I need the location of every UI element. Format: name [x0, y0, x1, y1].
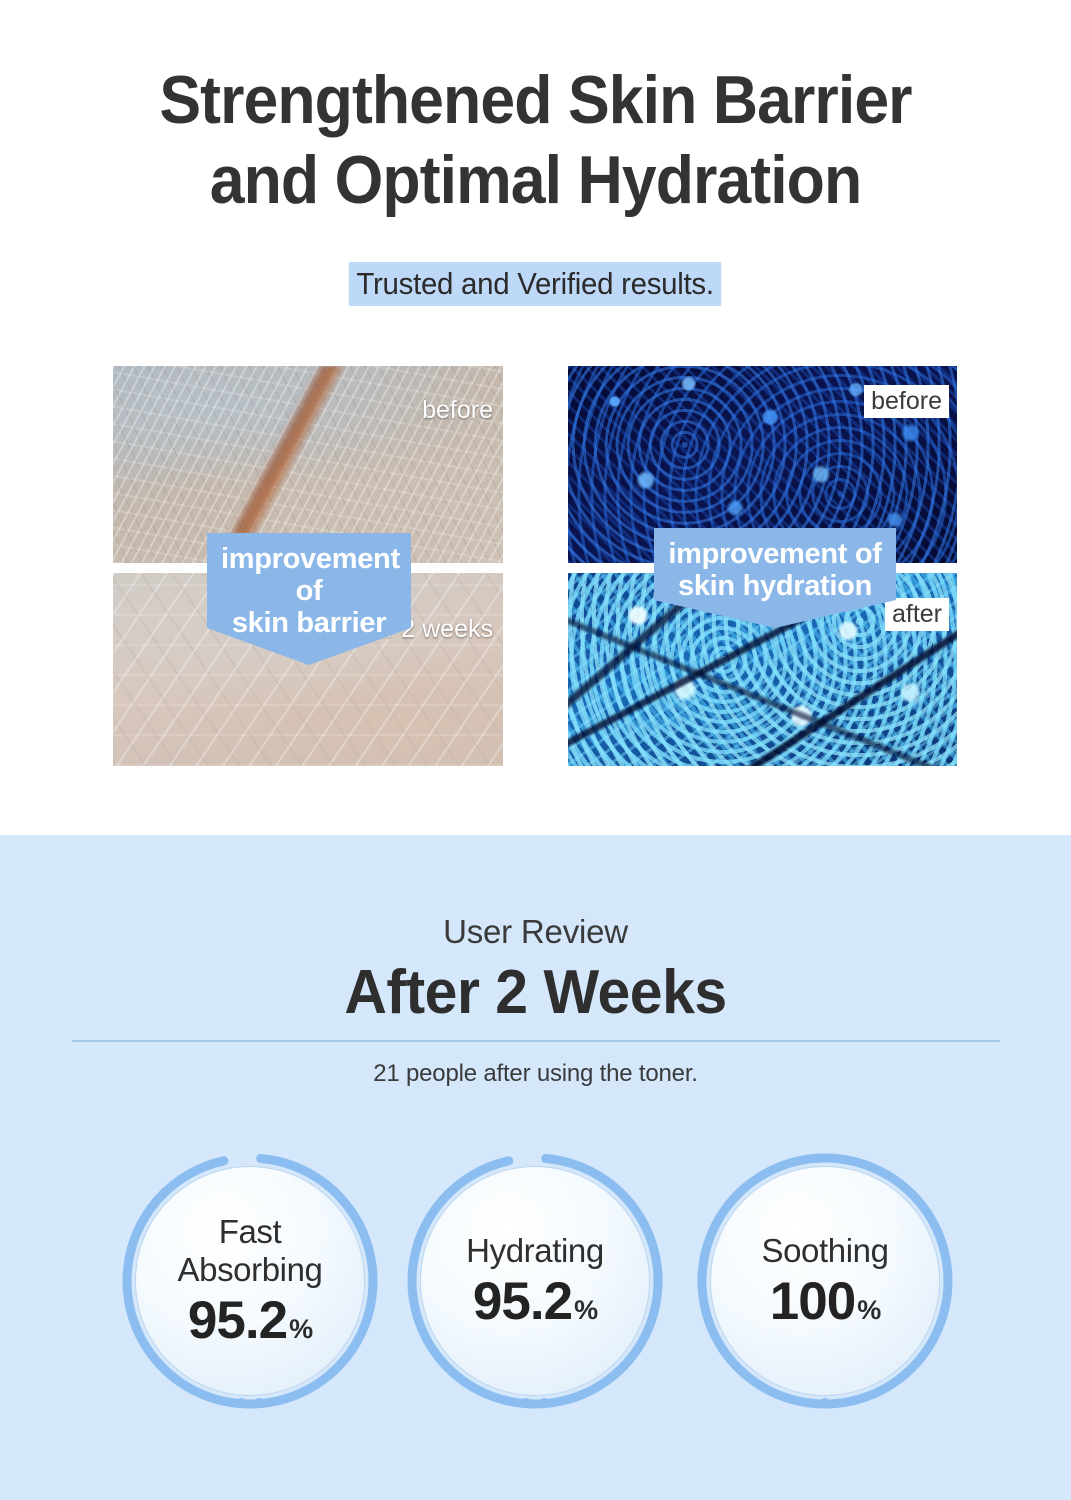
- stat-unit: %: [574, 1295, 597, 1325]
- evidence-panels: before after 2 weeks improvement of skin…: [0, 366, 1071, 766]
- stat-gauge-hydrating: Hydrating 95.2 %: [404, 1150, 666, 1412]
- stat-label: Fast Absorbing: [178, 1213, 323, 1289]
- stat-unit: %: [289, 1314, 312, 1344]
- banner-line-1: improvement of: [221, 543, 400, 607]
- stat-gauge-fast-absorbing: Fast Absorbing 95.2 %: [119, 1150, 381, 1412]
- page-title-line-2: and Optimal Hydration: [43, 140, 1028, 220]
- stat-value: 95.2: [188, 1293, 287, 1349]
- review-title: After 2 Weeks: [27, 955, 1044, 1031]
- stat-value: 100: [770, 1274, 855, 1330]
- evidence-panel-skin-hydration: before after improvement of skin hydrati…: [568, 366, 957, 766]
- hero-section: Strengthened Skin Barrier and Optimal Hy…: [0, 0, 1071, 835]
- review-note: 21 people after using the toner.: [0, 1057, 1071, 1091]
- stat-value-group: 95.2 %: [473, 1274, 597, 1330]
- image-label-after: after: [885, 598, 949, 631]
- stat-label: Hydrating: [466, 1232, 604, 1270]
- stat-unit: %: [857, 1295, 880, 1325]
- stat-value-group: 95.2 %: [188, 1293, 312, 1349]
- section-divider: [72, 1040, 1000, 1042]
- stat-value-group: 100 %: [770, 1274, 880, 1330]
- gauge-content: Soothing 100 %: [694, 1150, 956, 1412]
- page-title: Strengthened Skin Barrier and Optimal Hy…: [43, 60, 1028, 220]
- image-label-before: before: [864, 385, 949, 418]
- subheadline-wrapper: Trusted and Verified results.: [0, 262, 1071, 306]
- page-title-line-1: Strengthened Skin Barrier: [43, 60, 1028, 140]
- stat-label: Soothing: [761, 1232, 888, 1270]
- stat-gauge-soothing: Soothing 100 %: [694, 1150, 956, 1412]
- gauge-content: Fast Absorbing 95.2 %: [119, 1150, 381, 1412]
- review-kicker: User Review: [0, 913, 1071, 951]
- subheadline: Trusted and Verified results.: [349, 262, 722, 306]
- gauge-content: Hydrating 95.2 %: [404, 1150, 666, 1412]
- banner-line-1: improvement of: [668, 538, 881, 570]
- satisfaction-gauges: Fast Absorbing 95.2 % Hydrating 95.2 %: [0, 1150, 1071, 1450]
- evidence-panel-skin-barrier: before after 2 weeks improvement of skin…: [113, 366, 503, 766]
- image-label-before: before: [422, 396, 493, 424]
- user-review-section: User Review After 2 Weeks 21 people afte…: [0, 835, 1071, 1500]
- stat-value: 95.2: [473, 1274, 572, 1330]
- banner-line-2: skin barrier: [232, 607, 386, 639]
- banner-line-2: skin hydration: [678, 570, 872, 602]
